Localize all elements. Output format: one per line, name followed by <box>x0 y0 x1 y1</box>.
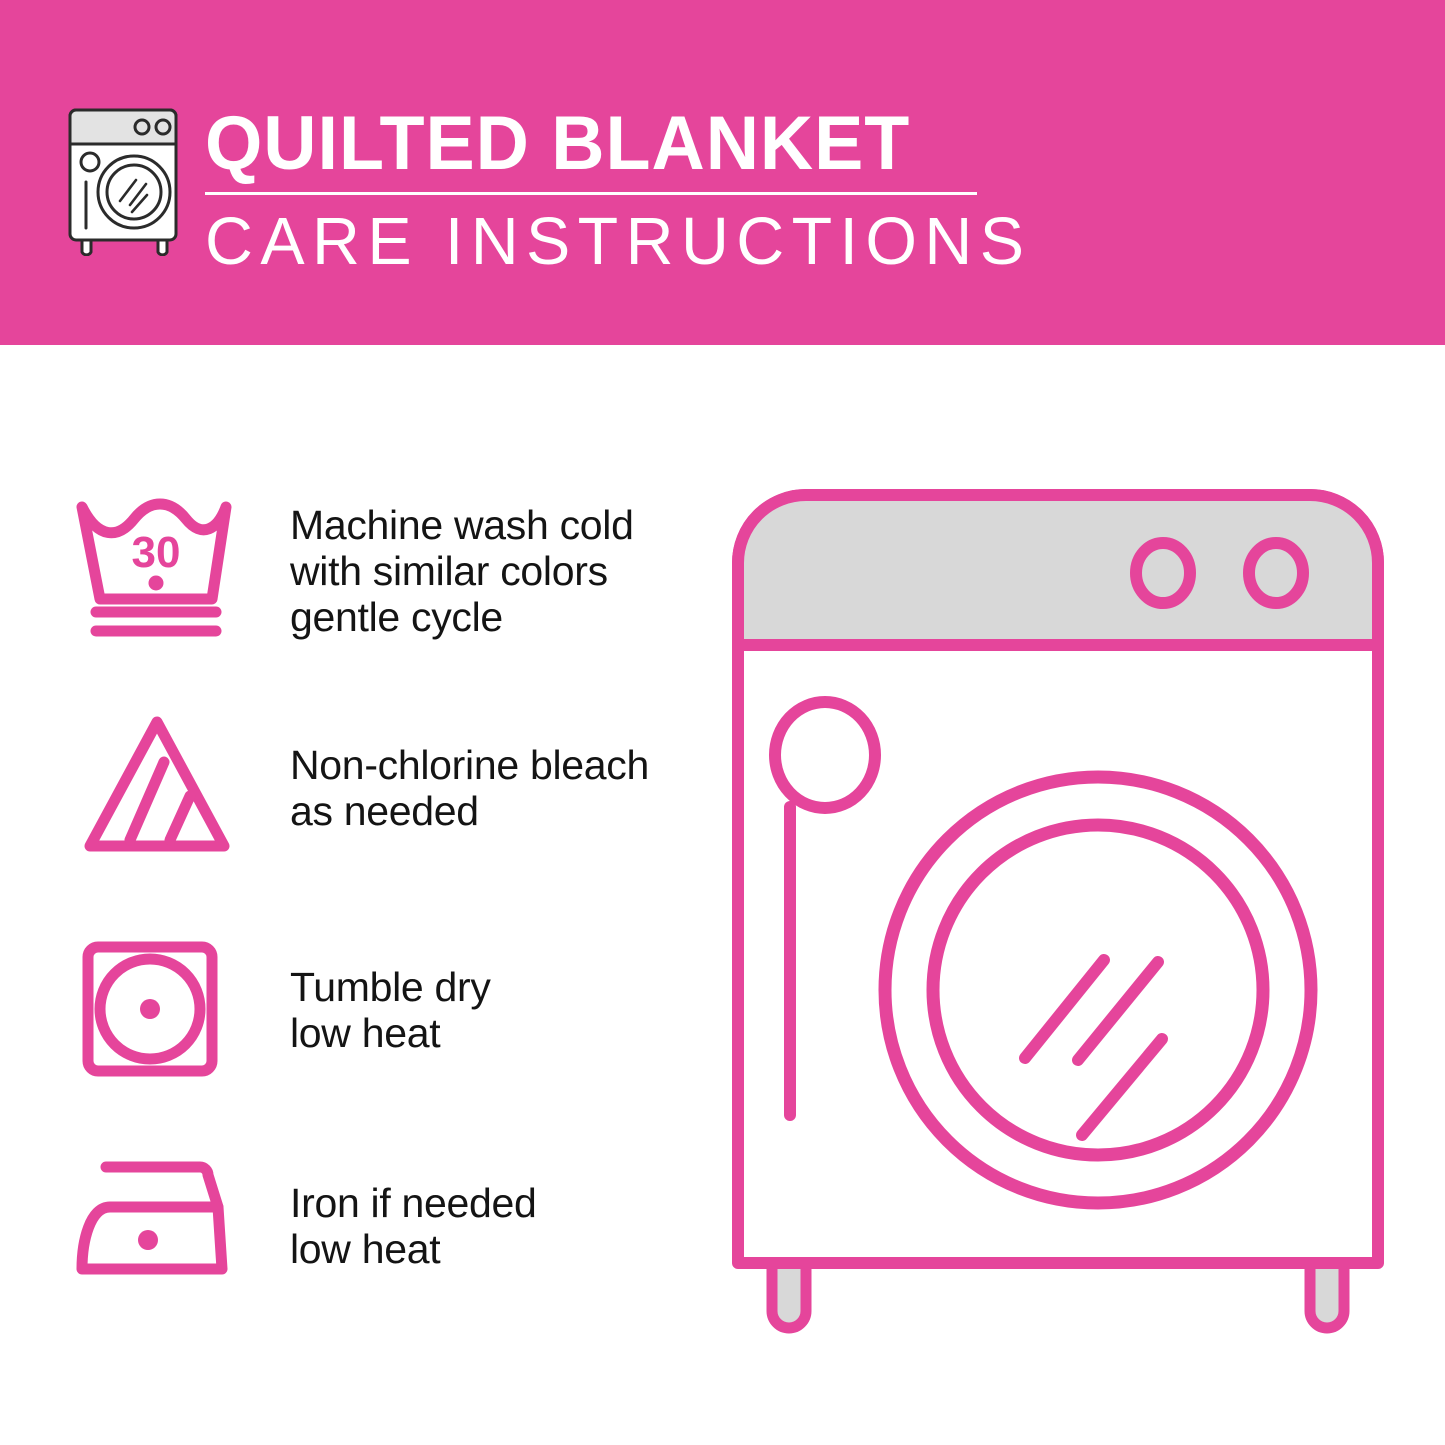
care-line: gentle cycle <box>290 597 634 638</box>
care-instruction-list: 30 Machine wash cold with similar colors… <box>0 345 700 1445</box>
tumble-dry-low-icon <box>72 935 242 1085</box>
care-text-machine-wash: Machine wash cold with similar colors ge… <box>290 505 634 643</box>
page-subtitle: CARE INSTRUCTIONS <box>205 205 987 279</box>
washing-machine-icon <box>62 104 192 256</box>
care-text-bleach: Non-chlorine bleach as needed <box>290 745 649 837</box>
header-title-block: QUILTED BLANKET CARE INSTRUCTIONS <box>205 104 995 279</box>
care-text-tumble-dry: Tumble dry low heat <box>290 967 491 1059</box>
title-divider <box>205 192 977 195</box>
page-title: QUILTED BLANKET <box>205 104 971 184</box>
bleach-triangle-non-chlorine-icon <box>72 710 242 860</box>
care-line: as needed <box>290 791 649 832</box>
iron-low-heat-icon <box>72 1145 242 1295</box>
care-line: Machine wash cold <box>290 505 634 546</box>
header-banner: QUILTED BLANKET CARE INSTRUCTIONS <box>0 0 1445 345</box>
care-instructions-infographic: QUILTED BLANKET CARE INSTRUCTIONS 30 <box>0 0 1445 1445</box>
care-text-iron: Iron if needed low heat <box>290 1183 537 1275</box>
care-line: Iron if needed <box>290 1183 537 1224</box>
care-line: with similar colors <box>290 551 634 592</box>
care-line: Tumble dry <box>290 967 491 1008</box>
care-line: low heat <box>290 1013 491 1054</box>
care-line: low heat <box>290 1229 537 1270</box>
wash-tub-30-gentle-icon: 30 <box>72 495 242 645</box>
wash-temperature-value: 30 <box>132 528 181 577</box>
front-load-washing-machine-illustration <box>728 485 1388 1365</box>
care-line: Non-chlorine bleach <box>290 745 649 786</box>
